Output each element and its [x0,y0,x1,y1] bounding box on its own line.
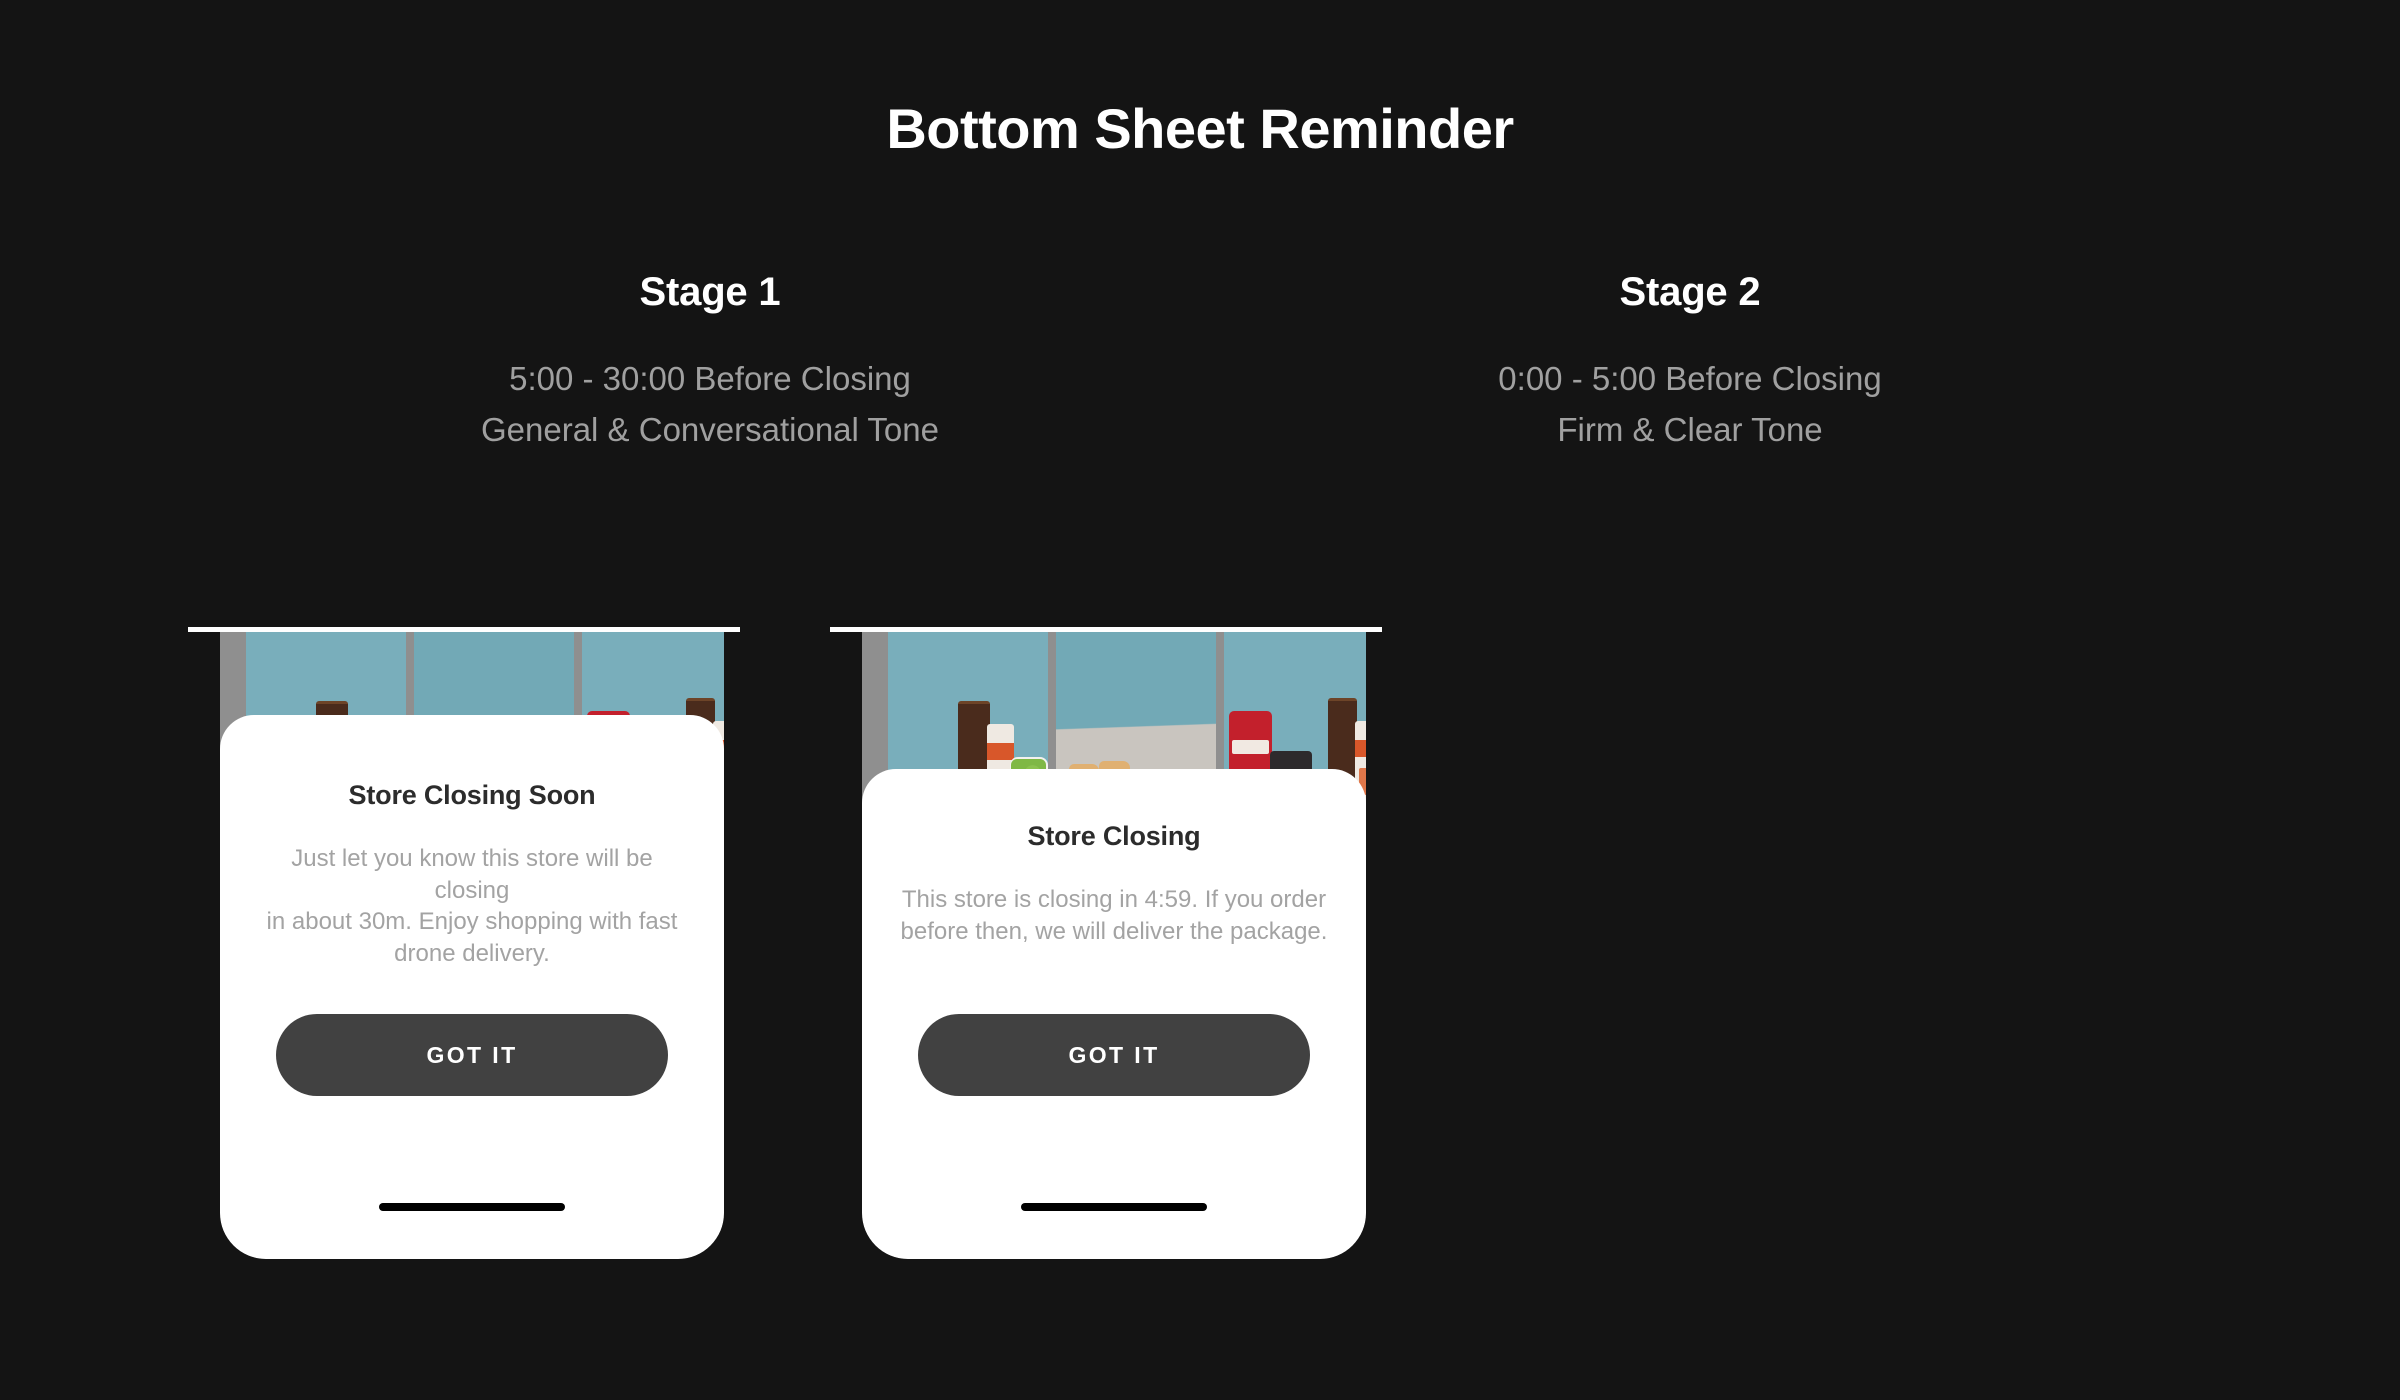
stage-2-title: Stage 2 [1190,270,2190,315]
sheet-body-line: drone delivery. [256,938,688,970]
stage-1-timing: 5:00 - 30:00 Before Closing [210,353,1210,404]
stage-2-tone: Firm & Clear Tone [1190,404,2190,455]
phone-screen-stage-1: Store Closing Soon Just let you know thi… [220,632,724,1259]
got-it-button[interactable]: GOT IT [276,1014,668,1096]
phone-screen-stage-2: Store Closing This store is closing in 4… [862,632,1366,1259]
home-indicator[interactable] [1021,1203,1207,1211]
stage-2-timing: 0:00 - 5:00 Before Closing [1190,353,2190,404]
stage-2-description: 0:00 - 5:00 Before Closing Firm & Clear … [1190,353,2190,455]
stage-1-column: Stage 1 5:00 - 30:00 Before Closing Gene… [210,270,1210,455]
page-title: Bottom Sheet Reminder [0,95,2400,162]
sheet-body-line: before then, we will deliver the package… [898,916,1330,948]
stage-1-description: 5:00 - 30:00 Before Closing General & Co… [210,353,1210,455]
sheet-body-stage-2: This store is closing in 4:59. If you or… [898,884,1330,947]
stage-1-title: Stage 1 [210,270,1210,315]
stage-1-tone: General & Conversational Tone [210,404,1210,455]
sheet-body-stage-1: Just let you know this store will be clo… [256,843,688,970]
sheet-body-line: in about 30m. Enjoy shopping with fast [256,906,688,938]
bottom-sheet-stage-2: Store Closing This store is closing in 4… [862,769,1366,1259]
sheet-body-line: Just let you know this store will be clo… [256,843,688,906]
stage-2-column: Stage 2 0:00 - 5:00 Before Closing Firm … [1190,270,2190,455]
sheet-title-stage-2: Store Closing [862,821,1366,852]
got-it-button[interactable]: GOT IT [918,1014,1310,1096]
sheet-title-stage-1: Store Closing Soon [220,780,724,811]
bottom-sheet-stage-1: Store Closing Soon Just let you know thi… [220,715,724,1259]
sheet-body-line: This store is closing in 4:59. If you or… [898,884,1330,916]
home-indicator[interactable] [379,1203,565,1211]
screenshot-root: Bottom Sheet Reminder Stage 1 5:00 - 30:… [0,0,2400,1400]
